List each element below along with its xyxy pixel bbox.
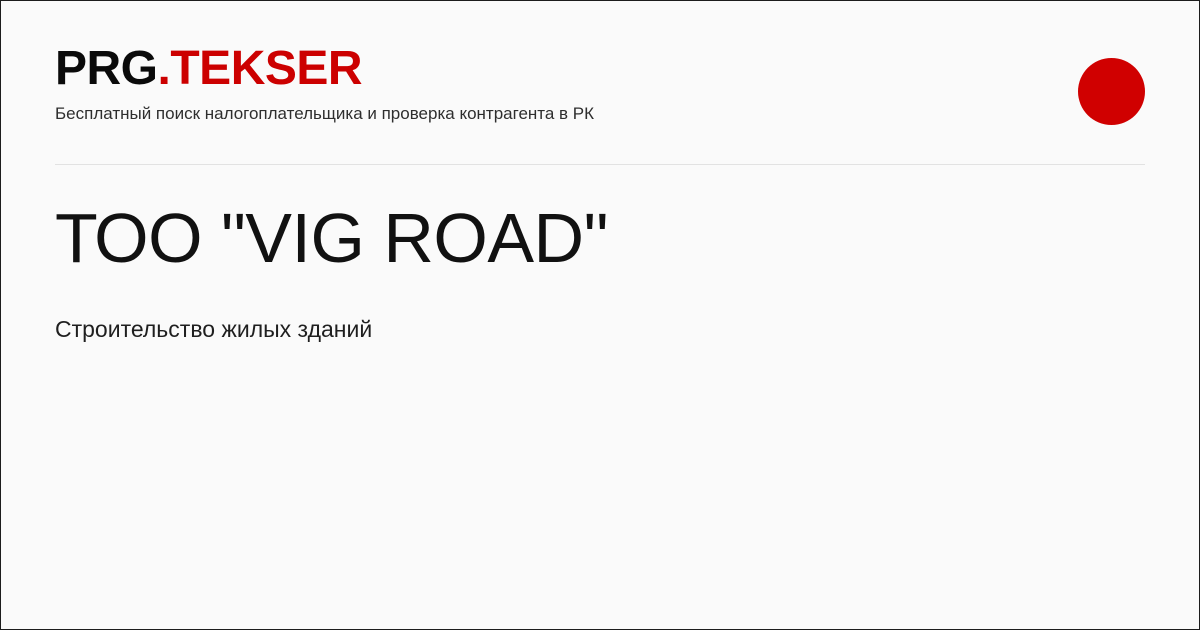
header-divider	[55, 164, 1145, 165]
company-activity-text: Строительство жилых зданий	[55, 315, 1145, 345]
og-preview-card: PRG.TEKSER Бесплатный поиск налогоплател…	[0, 0, 1200, 630]
brand-logo-accent: TEKSER	[170, 42, 362, 95]
brand-logo-primary: PRG	[55, 42, 158, 95]
brand-tagline: Бесплатный поиск налогоплательщика и про…	[55, 104, 594, 124]
card-body: ТОО "VIG ROAD" Строительство жилых здани…	[55, 201, 1145, 344]
company-name-title: ТОО "VIG ROAD"	[55, 201, 1145, 277]
brand-logo-separator: .	[158, 42, 171, 95]
brand-logo[interactable]: PRG.TEKSER	[55, 45, 594, 93]
brand-block[interactable]: PRG.TEKSER Бесплатный поиск налогоплател…	[55, 45, 594, 124]
card-header: PRG.TEKSER Бесплатный поиск налогоплател…	[55, 45, 1145, 137]
red-circle-icon	[1078, 58, 1145, 125]
